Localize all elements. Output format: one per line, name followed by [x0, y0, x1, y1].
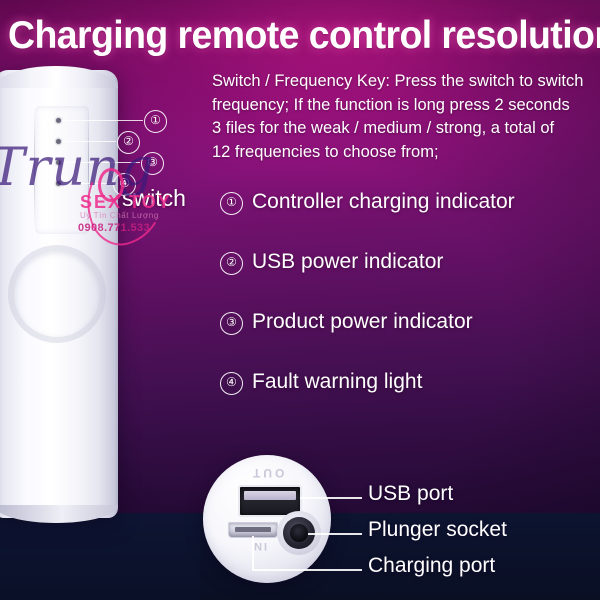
callout-number-3: ③ — [141, 152, 164, 175]
description-line-4: 12 frequencies to choose from; — [212, 141, 600, 165]
bottom-label-plunger-socket: Plunger socket — [368, 518, 507, 542]
product-seam-right — [88, 108, 89, 228]
product-button-panel — [35, 106, 89, 234]
indicator-dot-1 — [56, 118, 61, 123]
feature-item-4: ④Fault warning light — [220, 370, 422, 395]
feature-label-4: Fault warning light — [252, 370, 422, 393]
description-line-2: frequency; If the function is long press… — [212, 94, 600, 118]
bottom-label-usb-port: USB port — [368, 482, 453, 506]
product-ring-emboss — [8, 245, 106, 343]
feature-label-1: Controller charging indicator — [252, 190, 515, 213]
feature-item-1: ①Controller charging indicator — [220, 190, 515, 215]
bottom-navy-band-left — [0, 513, 200, 600]
endcap-in-text: IN — [252, 540, 267, 552]
feature-marker-1: ① — [220, 192, 243, 215]
feature-marker-3: ③ — [220, 312, 243, 335]
bottom-callout-line-3-vertical — [252, 536, 254, 570]
switch-label: switch — [122, 185, 186, 212]
feature-label-2: USB power indicator — [252, 250, 443, 273]
callout-number-1: ① — [144, 110, 167, 133]
feature-item-3: ③Product power indicator — [220, 310, 473, 335]
callout-line-1 — [62, 120, 143, 121]
callout-line-3 — [62, 162, 140, 163]
bottom-callout-line-3 — [252, 569, 362, 571]
bottom-callout-line-1 — [300, 497, 362, 499]
callout-line-2 — [62, 141, 116, 142]
description-line-3: 3 files for the weak / medium / strong, … — [212, 117, 600, 141]
product-seam-left — [34, 108, 35, 228]
callout-number-2: ② — [117, 131, 140, 154]
bottom-label-charging-port: Charging port — [368, 554, 495, 578]
feature-label-3: Product power indicator — [252, 310, 473, 333]
bottom-callout-line-2 — [308, 533, 362, 535]
description-paragraph: Switch / Frequency Key: Press the switch… — [212, 70, 600, 164]
callout-line-4 — [62, 183, 112, 184]
endcap-out-text: OUT — [250, 466, 284, 480]
plunger-socket-inner — [290, 524, 308, 542]
feature-marker-4: ④ — [220, 372, 243, 395]
feature-item-2: ②USB power indicator — [220, 250, 443, 275]
feature-marker-2: ② — [220, 252, 243, 275]
page-title: Charging remote control resolution — [8, 14, 600, 58]
infographic-canvas: Charging remote control resolution ① ② ③… — [0, 0, 600, 600]
description-line-1: Switch / Frequency Key: Press the switch… — [212, 70, 600, 94]
indicator-dot-4 — [56, 181, 61, 186]
indicator-dot-2 — [56, 139, 61, 144]
indicator-dot-3 — [56, 160, 61, 165]
